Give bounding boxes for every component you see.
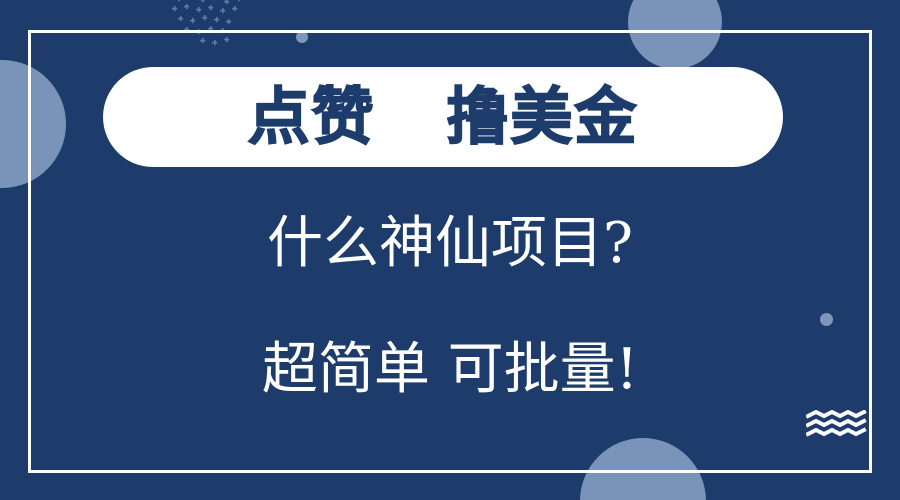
poster-content: 点赞 撸美金 什么神仙项目? 超简单 可批量! <box>0 0 900 500</box>
headline-pill: 点赞 撸美金 <box>103 67 783 167</box>
tagline-text: 超简单 可批量! <box>0 338 900 402</box>
promo-poster: 点赞 撸美金 什么神仙项目? 超简单 可批量! <box>0 0 900 500</box>
headline-text: 点赞 撸美金 <box>248 86 639 148</box>
subheadline-text: 什么神仙项目? <box>0 212 900 276</box>
